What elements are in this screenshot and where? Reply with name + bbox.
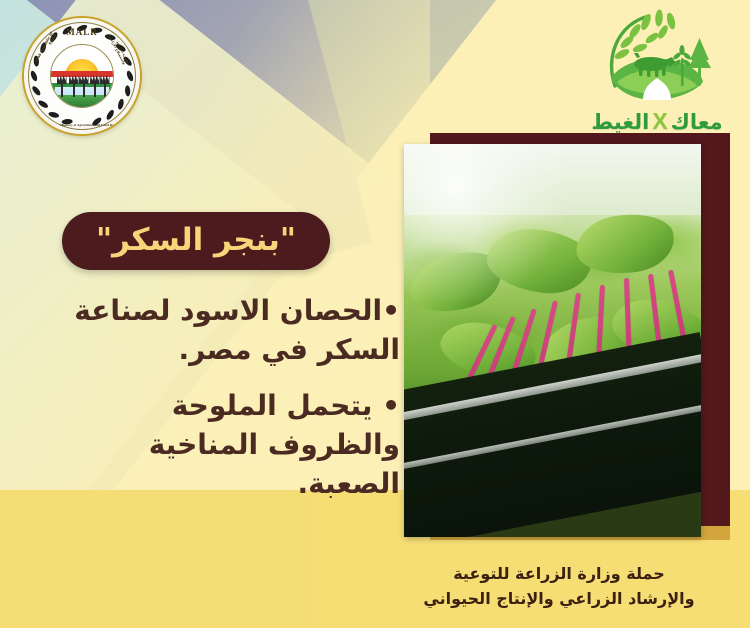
bullet-item: • يتحمل الملوحة والظروف المناخية الصعبة. [40, 387, 400, 503]
footer-campaign-credit: حملة وزارة الزراعة للتوعية والإرشاد الزر… [394, 562, 724, 612]
wheat-icon [79, 75, 88, 97]
poster-root: MALR Arab Republic of Egypt وزارة الزراع… [0, 0, 750, 628]
campaign-logo-text: معاكXالغيط [582, 110, 732, 133]
bullet-item: •الحصان الاسود لصناعة السكر في مصر. [40, 292, 400, 369]
wheat-icon [100, 75, 109, 97]
title-badge: "بنجر السكر" [62, 212, 330, 270]
page-title: "بنجر السكر" [96, 225, 296, 256]
campaign-logo: معاكXالغيط [582, 8, 732, 138]
ministry-seal: MALR Arab Republic of Egypt وزارة الزراع… [24, 18, 140, 134]
seal-emblem [50, 44, 114, 108]
campaign-text-separator: X [649, 108, 670, 134]
footer-line-2: والإرشاد الزراعي والإنتاج الحيواني [394, 587, 724, 612]
campaign-text-left: الغيط [591, 110, 649, 134]
footer-line-1: حملة وزارة الزراعة للتوعية [394, 562, 724, 587]
cotton-icon [69, 75, 78, 97]
campaign-text-right: معاك [671, 110, 723, 134]
seal-acronym: MALR [24, 27, 140, 37]
farm-circle-icon [597, 8, 717, 104]
crate-rail [404, 403, 701, 476]
cotton-icon [90, 75, 99, 97]
wheat-icon [57, 75, 66, 97]
bullet-list: •الحصان الاسود لصناعة السكر في مصر. • يت… [40, 292, 400, 521]
sugar-beet-harvest-photo [404, 144, 701, 537]
seal-bottom-text: Ministry of Agriculture and Land Reclama… [24, 123, 140, 128]
